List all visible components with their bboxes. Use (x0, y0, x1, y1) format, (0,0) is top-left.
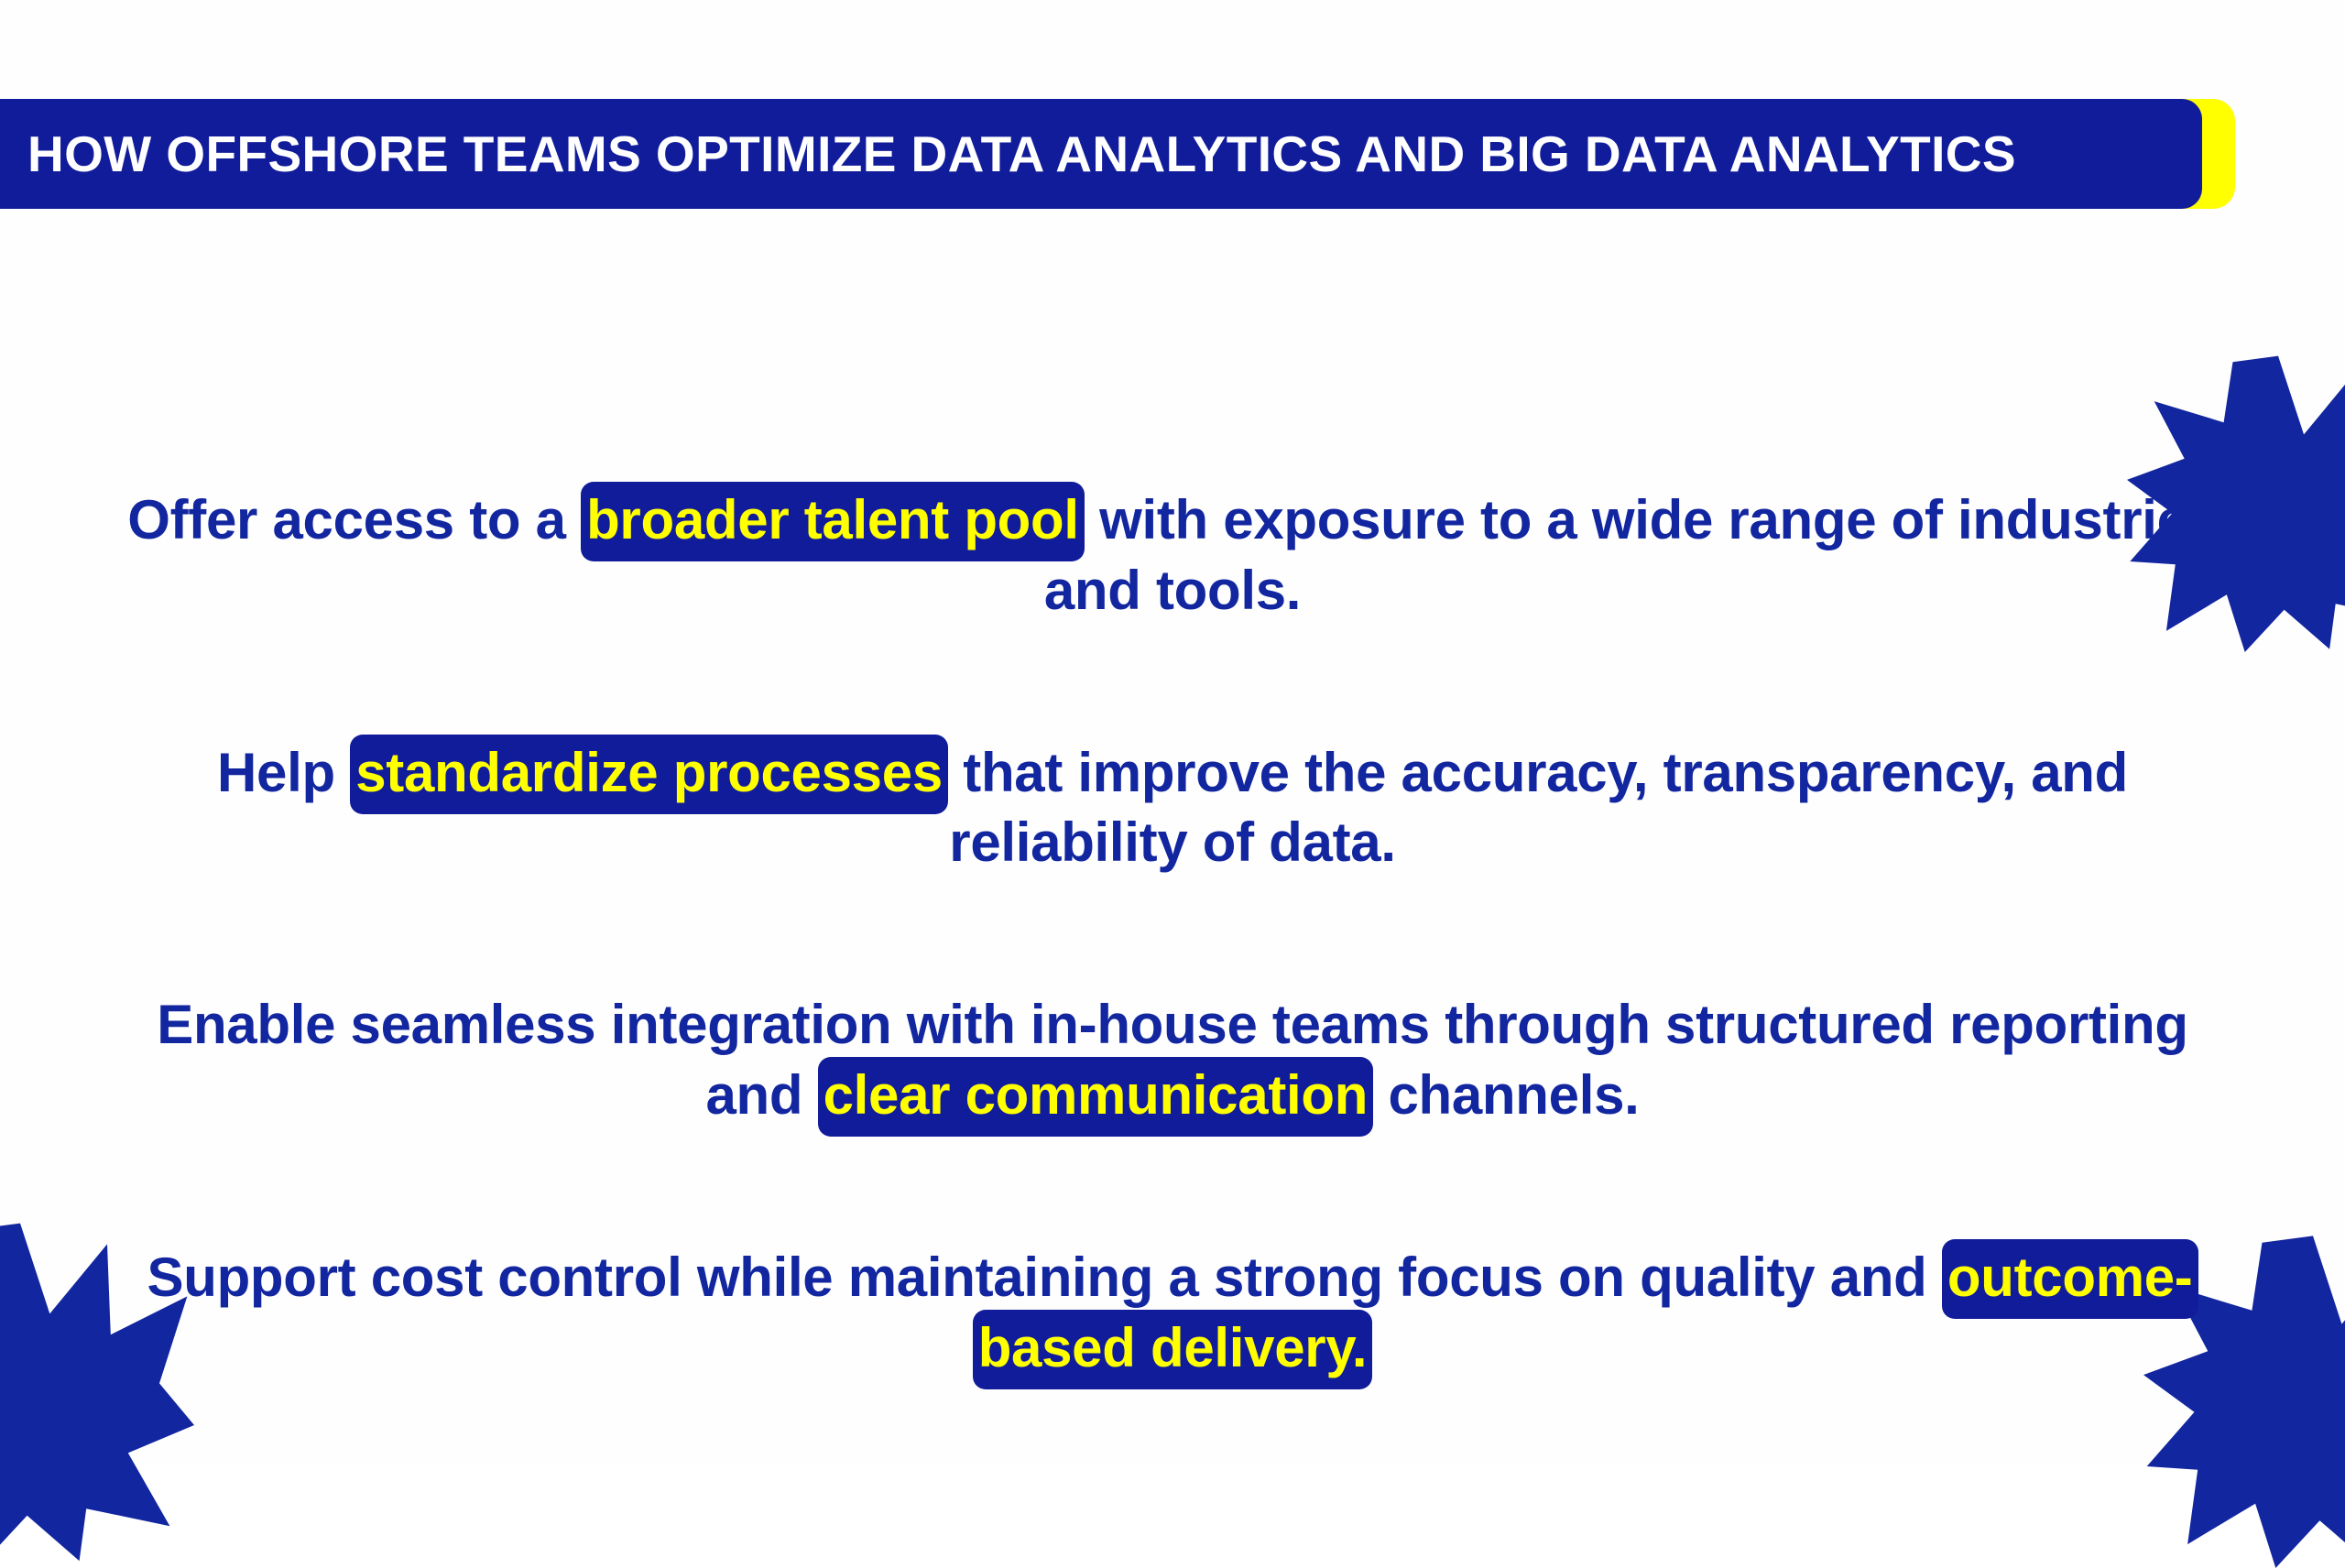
paragraph-1-pre-text: Offer access to a (127, 489, 581, 550)
paragraph-2-post-text: that improve the accuracy, transparency,… (948, 742, 2128, 874)
header-navy-bar: HOW OFFSHORE TEAMS OPTIMIZE DATA ANALYTI… (0, 99, 2202, 209)
paragraph-4-pre-text: Support cost control while maintaining a… (147, 1247, 1942, 1308)
paragraph-3-post-text: channels. (1373, 1064, 1639, 1126)
bullet-paragraph-1: Offer access to a broader talent pool wi… (119, 485, 2226, 626)
paragraph-1-highlight: broader talent pool (581, 482, 1085, 561)
paragraph-1-post-text: with exposure to a wide range of industr… (1044, 489, 2218, 621)
paragraph-2-highlight: standardize processes (350, 735, 948, 814)
paragraph-2-pre-text: Help (217, 742, 350, 803)
page-title: HOW OFFSHORE TEAMS OPTIMIZE DATA ANALYTI… (27, 125, 2016, 183)
body-content: Offer access to a broader talent pool wi… (0, 430, 2345, 1383)
bullet-paragraph-4: Support cost control while maintaining a… (119, 1243, 2226, 1384)
paragraph-3-highlight: clear communication (818, 1057, 1373, 1137)
bullet-paragraph-3: Enable seamless integration with in-hous… (119, 990, 2226, 1131)
bullet-paragraph-2: Help standardize processes that improve … (119, 738, 2226, 879)
header-banner: HOW OFFSHORE TEAMS OPTIMIZE DATA ANALYTI… (0, 99, 2235, 209)
